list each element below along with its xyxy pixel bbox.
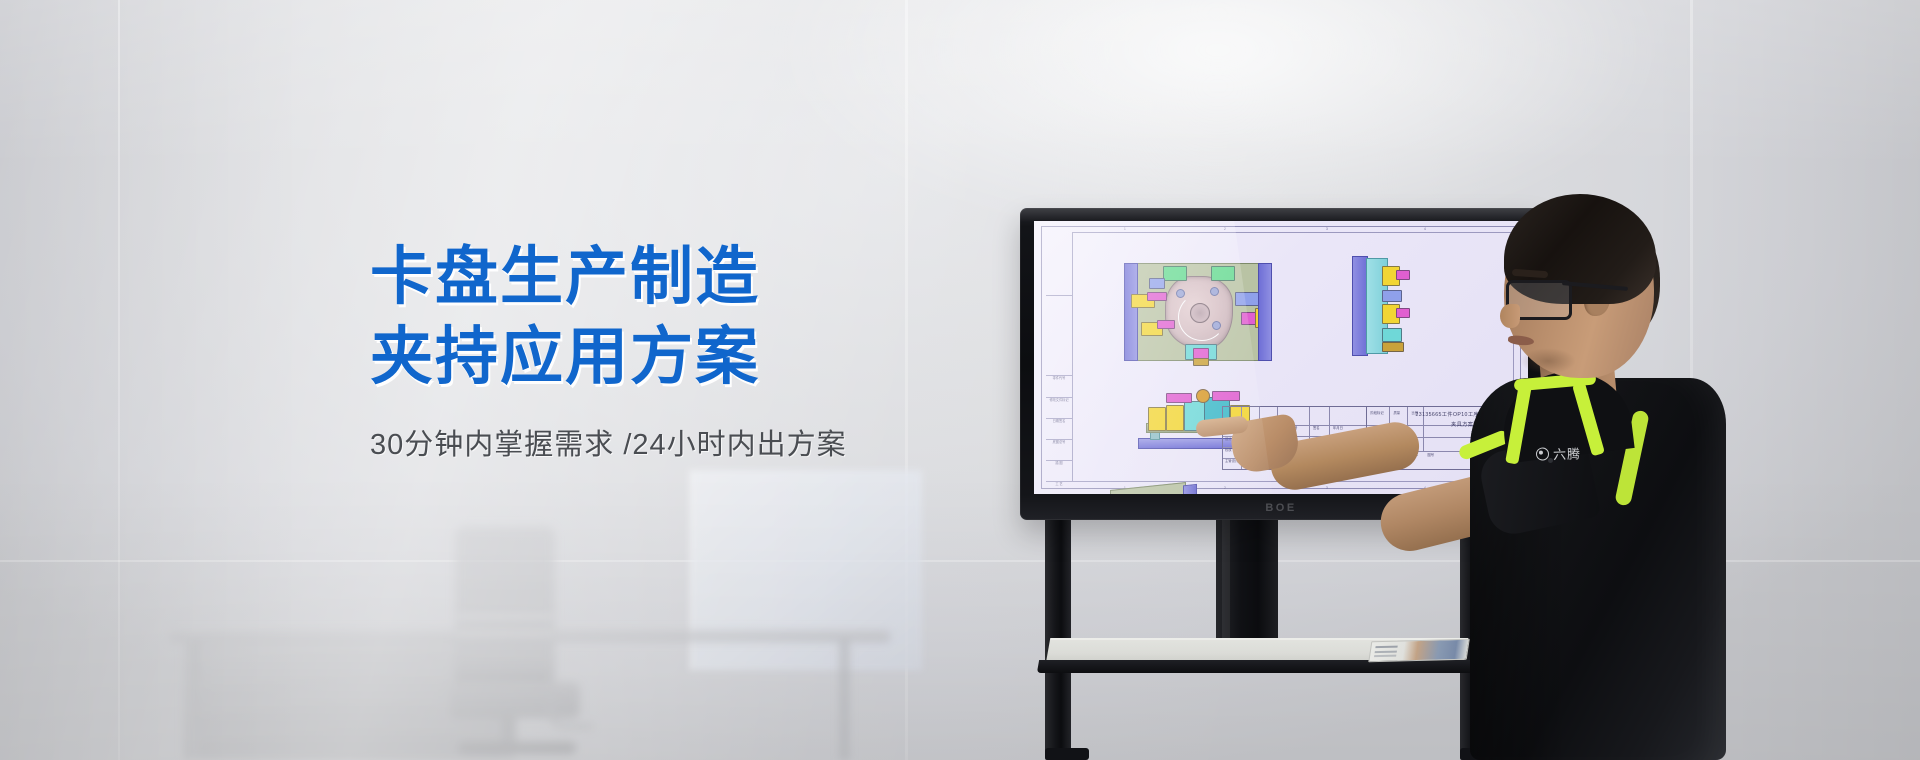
office-chair-backrest-seam (457, 615, 553, 618)
tb-row-label: 校核 (1225, 449, 1232, 452)
cad-left-cell-label: 日期签名 (1046, 419, 1072, 440)
cart-post-left (1045, 508, 1071, 760)
presenter-chin-shading (1520, 348, 1576, 374)
clamp-handle (1196, 389, 1210, 403)
support-block (1149, 278, 1165, 289)
tb-col (1407, 407, 1408, 425)
headline-line-2: 夹持应用方案 (370, 320, 990, 396)
cad-view-side (1352, 256, 1410, 354)
hero-banner: 卡盘生产制造 夹持应用方案 30分钟内掌握需求 /24小时内出方案 (0, 0, 1920, 760)
cad-tick: 4 (1424, 227, 1426, 231)
workpiece-hole (1210, 287, 1219, 296)
clamp-arm (1166, 393, 1192, 403)
cad-left-cell-label: 底图总号 (1046, 440, 1072, 461)
cad-left-cell-label: 工 艺 (1046, 482, 1072, 494)
locator-pad (1211, 266, 1235, 281)
tb-right-header: 质量 (1393, 412, 1400, 415)
headline-line-1: 卡盘生产制造 (370, 240, 990, 316)
clamp-arm (1157, 320, 1175, 329)
cad-left-cell (1046, 296, 1072, 376)
cad-left-label-column: 零件代号 修改文件标记 日期签名 底图总号 描 图 工 艺 (1046, 232, 1073, 482)
hero-copy: 卡盘生产制造 夹持应用方案 30分钟内掌握需求 /24小时内出方案 (370, 240, 990, 463)
cad-tick: 2 (1224, 227, 1226, 231)
cad-tick: 3 (1326, 227, 1328, 231)
presenter: 六腾 (1428, 196, 1758, 760)
background-furniture (150, 500, 890, 760)
chest-logo: 六腾 (1536, 443, 1582, 464)
cad-view-top (1136, 263, 1260, 361)
clamp-unit (1255, 308, 1271, 328)
subheadline: 30分钟内掌握需求 /24小时内出方案 (370, 421, 990, 463)
cart-shelf-edge (1037, 660, 1477, 673)
tb-header-cell: 签名 (1313, 427, 1320, 430)
tb-right-header: 阶段标记 (1370, 412, 1383, 415)
tb-header-cell: 年月日 (1333, 427, 1343, 430)
office-desk-leg (190, 642, 199, 760)
clamp-arm (1396, 270, 1410, 280)
clamp-arm (1396, 308, 1410, 318)
clamp-unit (1148, 407, 1166, 431)
cad-tick: 3 (1326, 486, 1328, 490)
clamp-arm (1212, 391, 1240, 401)
rest-pad (1382, 328, 1402, 342)
workpiece-hole (1176, 289, 1185, 298)
cad-tick: 2 (1224, 486, 1226, 490)
cart-shelf (1038, 638, 1470, 674)
clamp-stud (1382, 342, 1404, 352)
clamp-arm (1147, 292, 1167, 301)
cad-left-cell-label: 零件代号 (1046, 376, 1072, 398)
support-block (1235, 292, 1259, 306)
workpiece-casting (1165, 276, 1233, 348)
cad-tick: 1 (1124, 227, 1126, 231)
clamp-arm (1241, 312, 1267, 325)
workpiece-hole (1212, 321, 1221, 330)
cad-left-cell (1046, 232, 1072, 296)
wall-seam-left (118, 0, 120, 760)
cart-foot (1045, 748, 1089, 760)
workpiece-contour (1178, 293, 1226, 341)
clamp-unit (1166, 405, 1184, 431)
office-desk-leg (840, 642, 849, 760)
locator-pad (1163, 266, 1187, 281)
chest-logo-text: 六腾 (1553, 443, 1582, 463)
support-block (1382, 290, 1402, 302)
office-chair-armrest (548, 672, 593, 729)
company-emblem-icon (1536, 447, 1549, 460)
cad-left-cell-label: 修改文件标记 (1046, 398, 1072, 419)
office-chair-base (458, 742, 576, 754)
clamp-stud (1193, 358, 1209, 366)
fixture-base-plate (1183, 484, 1197, 494)
office-chair-backrest-seam (457, 632, 553, 635)
cad-left-cell-label: 描 图 (1046, 461, 1072, 482)
presenter-nose (1500, 304, 1520, 328)
office-chair-backrest (455, 526, 555, 691)
